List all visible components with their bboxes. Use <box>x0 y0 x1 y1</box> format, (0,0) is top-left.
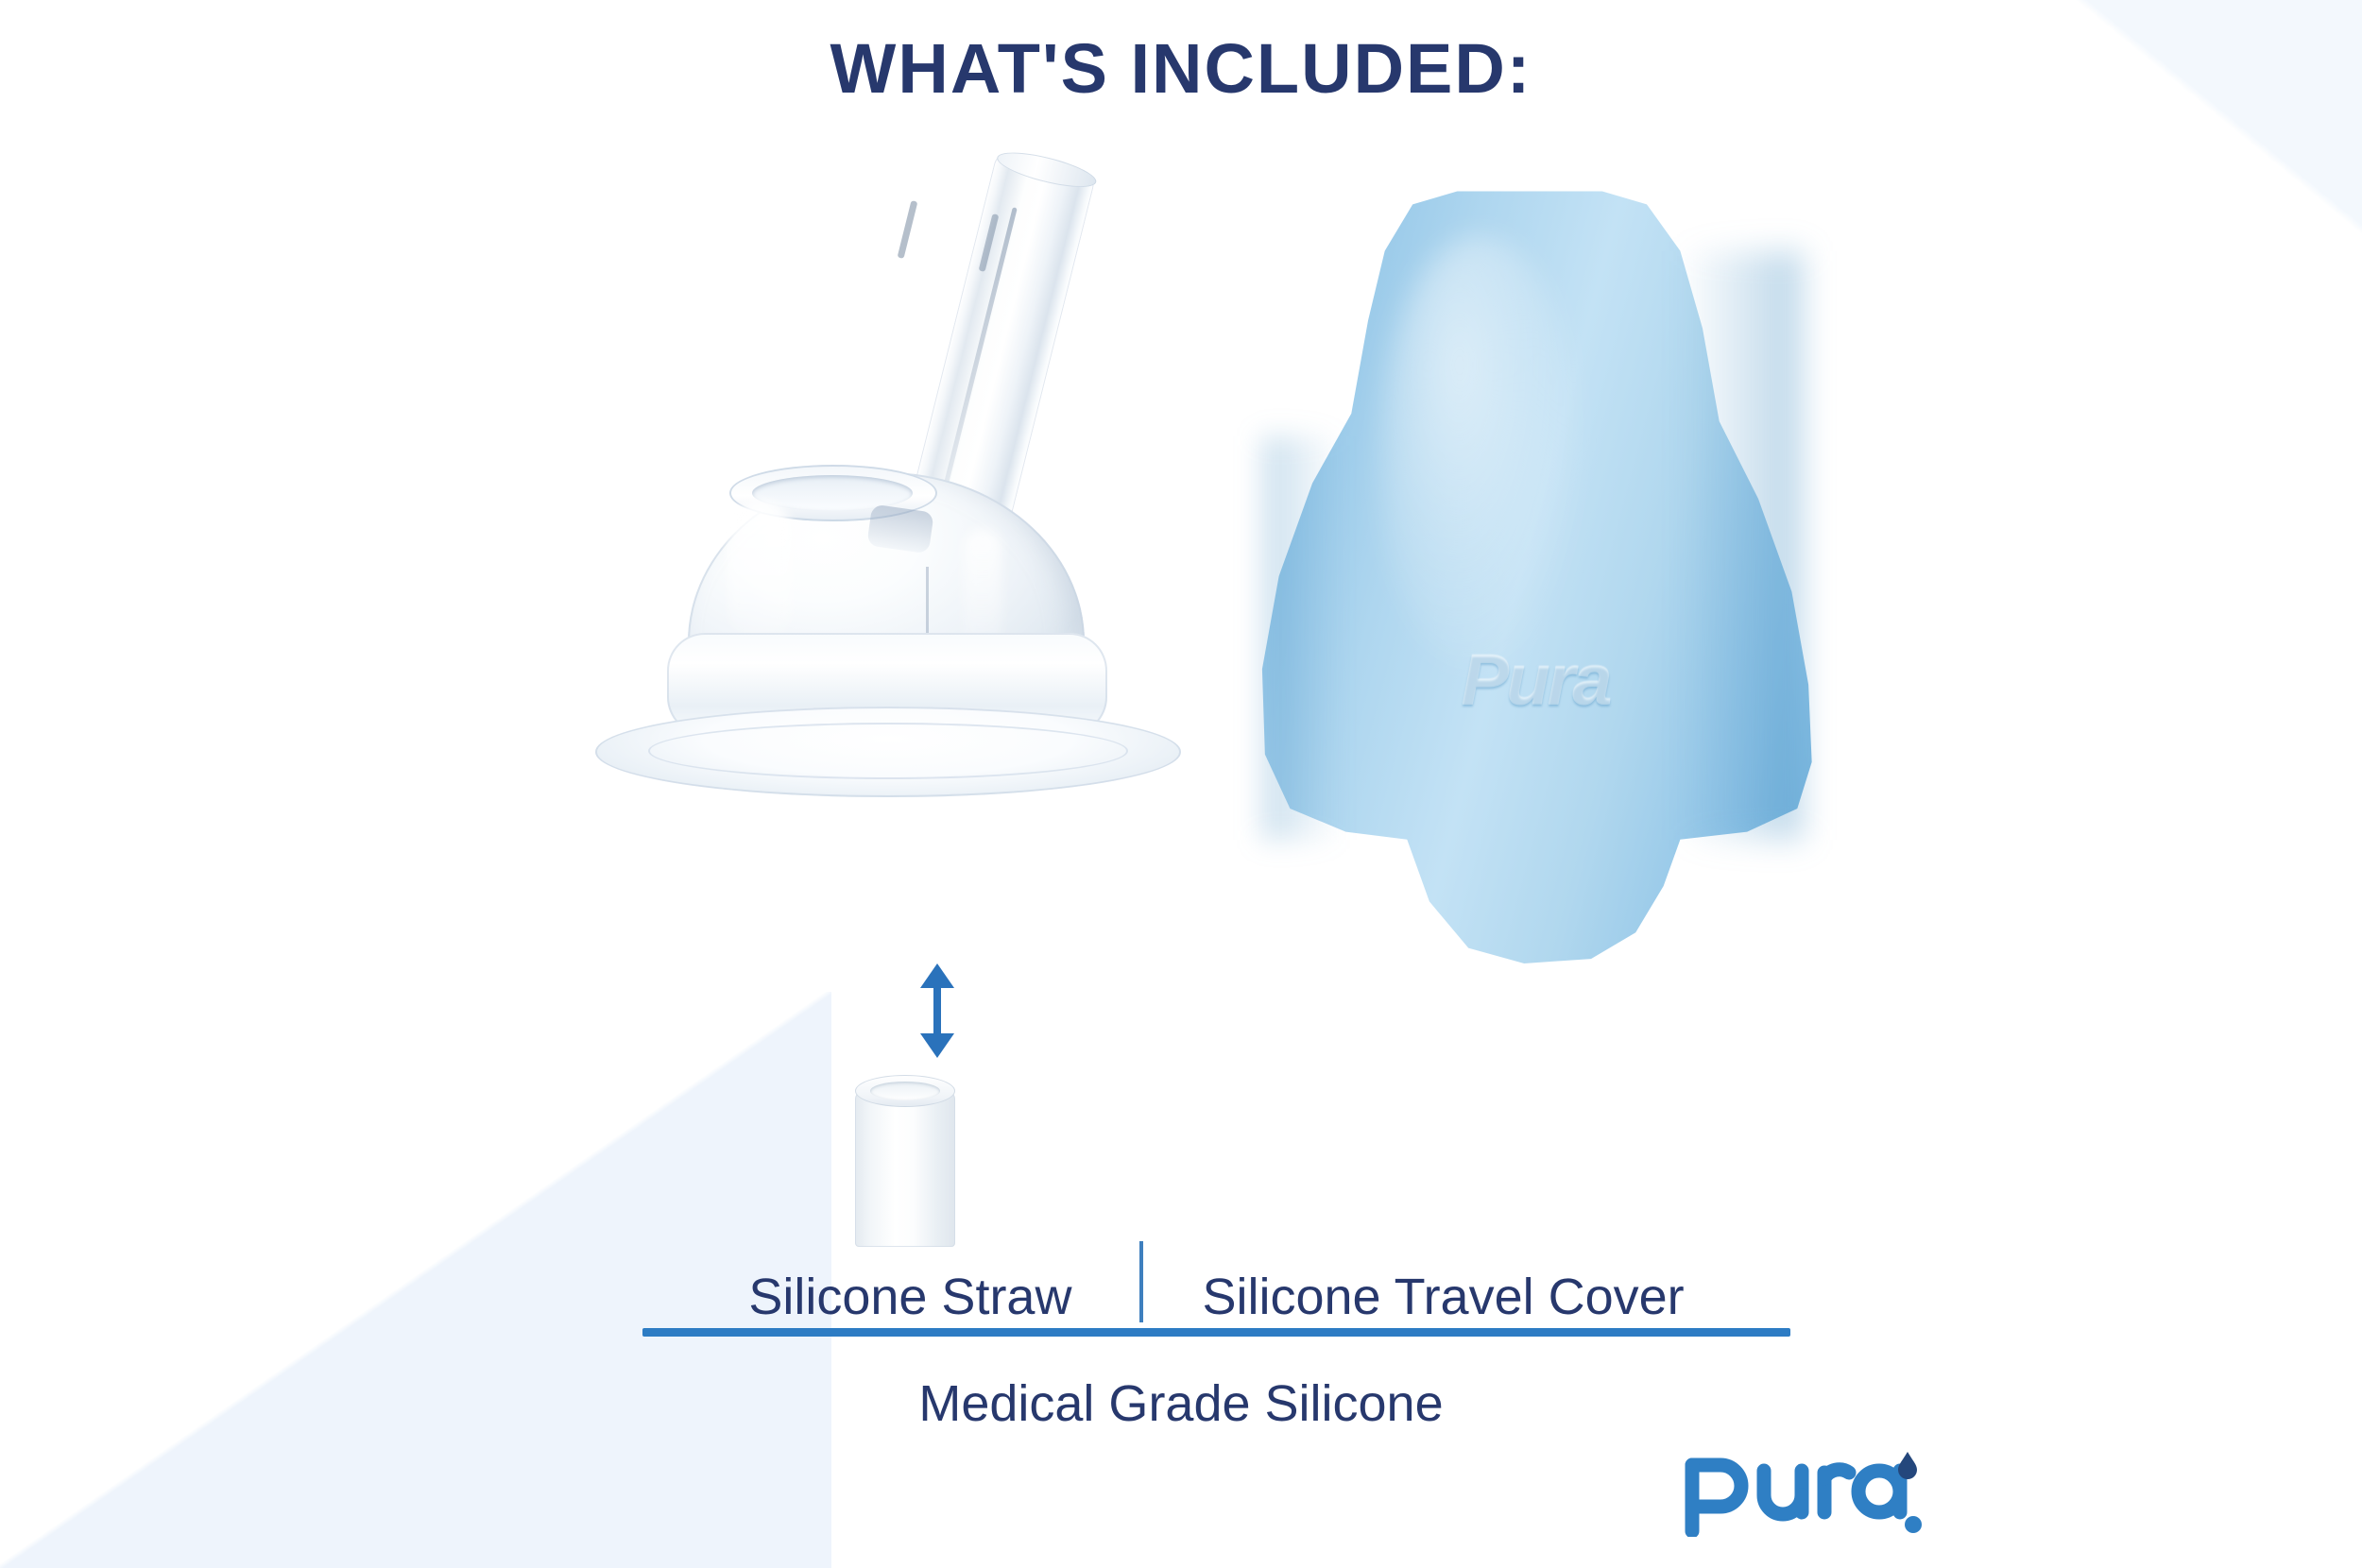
caption-silicone-travel-cover: Silicone Travel Cover <box>1143 1271 1684 1322</box>
caption-silicone-straw: Silicone Straw <box>748 1271 1139 1322</box>
pura-brand-logo <box>1677 1450 1923 1537</box>
caption-row: Silicone Straw Silicone Travel Cover <box>642 1245 1790 1322</box>
straw-opening <box>870 1082 940 1100</box>
spout-tube-notch-left <box>898 200 918 259</box>
clear-straw-spout-lid <box>586 189 1209 963</box>
attachment-arrow-icon <box>909 963 966 1058</box>
lid-highlight-left <box>727 501 794 642</box>
travel-cover-body <box>1257 189 1814 963</box>
infographic-page: WHAT'S INCLUDED: <box>0 0 2362 1568</box>
silicone-travel-cover: Pura <box>1257 189 1814 963</box>
lid-stem-joint <box>866 504 933 554</box>
lid-flange-inner-ring <box>648 723 1128 779</box>
material-caption: Medical Grade Silicone <box>0 1374 2362 1433</box>
caption-underline <box>642 1328 1790 1337</box>
straw-body <box>855 1090 955 1247</box>
caption-block: Silicone Straw Silicone Travel Cover <box>642 1245 1790 1337</box>
silicone-straw <box>855 1075 955 1247</box>
page-title: WHAT'S INCLUDED: <box>0 28 2362 109</box>
product-stage: Pura <box>0 189 2362 1228</box>
